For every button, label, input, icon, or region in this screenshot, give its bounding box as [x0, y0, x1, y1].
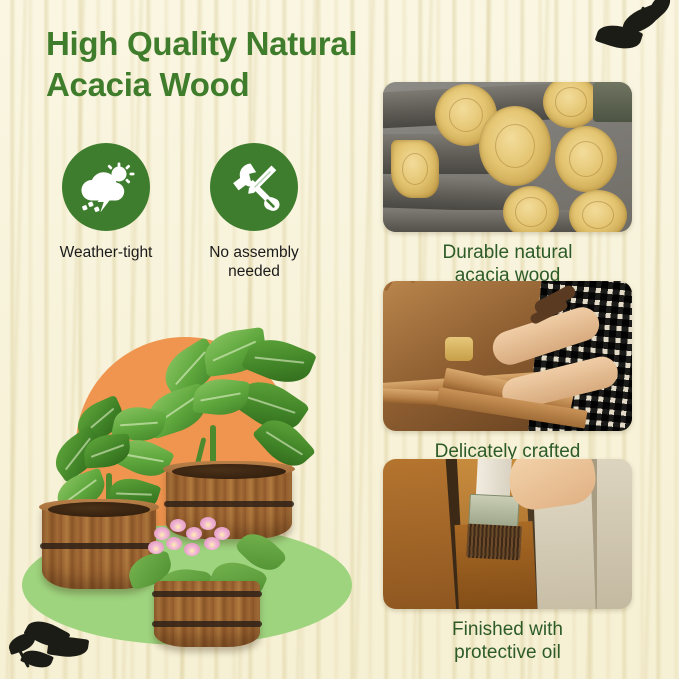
barrel-hoop [164, 501, 294, 507]
info-card-protective-oil: Finished with protective oil [383, 459, 632, 664]
weather-cloud-sun-lightning-icon [77, 162, 135, 212]
assembly-badge-circle [210, 143, 298, 231]
feature-label-weather-tight: Weather-tight [60, 244, 153, 263]
info-card-durable-wood: Durable natural acacia wood [383, 82, 632, 287]
brush-bristles [466, 524, 522, 561]
craftsman-measuring-wood-photo [383, 281, 632, 431]
page-title: High Quality Natural Acacia Wood [46, 24, 376, 106]
barrel-hoop [152, 621, 262, 627]
feature-weather-tight: Weather-tight [46, 143, 166, 281]
tape-measure [445, 337, 473, 361]
page-title-line-1: High Quality Natural [46, 24, 376, 65]
page-title-line-2: Acacia Wood [46, 65, 376, 106]
card-caption-protective-oil: Finished with protective oil [383, 618, 632, 664]
leaf-ornament-top-right [591, 2, 669, 64]
brush-applying-protective-oil-photo [383, 459, 632, 609]
barrel-planter-front [154, 581, 260, 647]
feature-badges: Weather-tight No assembly needed [46, 143, 346, 281]
feature-no-assembly: No assembly needed [194, 143, 314, 281]
barrel-soil [172, 464, 286, 479]
weather-badge-circle [62, 143, 150, 231]
barrel-hoop [152, 591, 262, 597]
feature-label-no-assembly: No assembly needed [209, 244, 299, 281]
wrench-screwdriver-icon [227, 160, 281, 214]
leaf-ornament-bottom-left [6, 605, 92, 673]
stacked-acacia-logs-photo [383, 82, 632, 232]
info-card-delicately-crafted: Delicately crafted [383, 281, 632, 463]
